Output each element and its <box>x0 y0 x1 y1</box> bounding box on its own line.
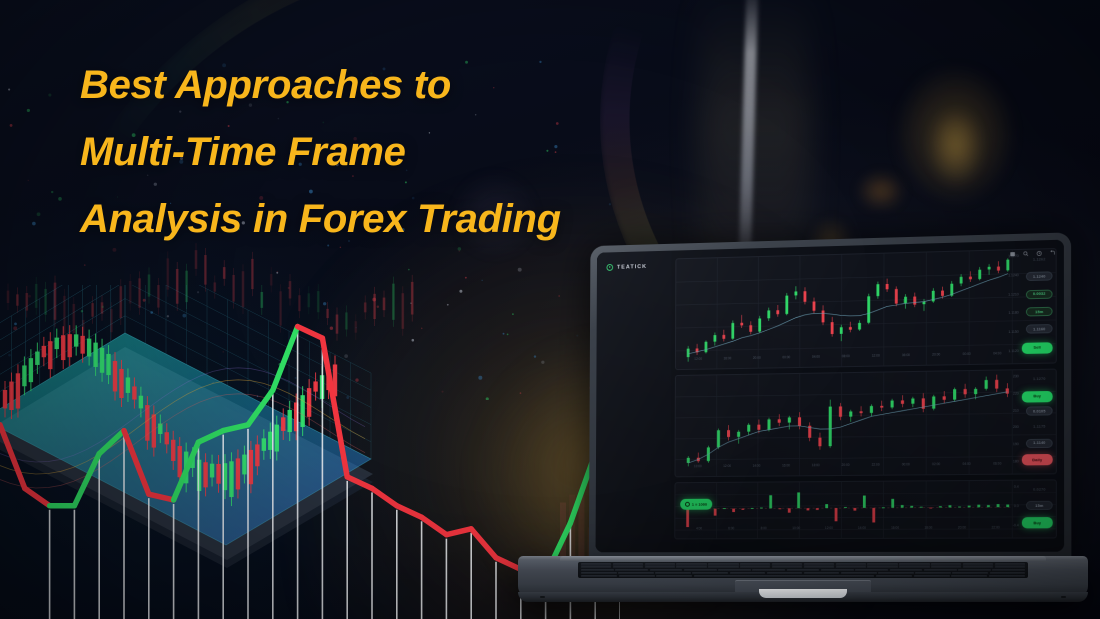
title-line-3: Analysis in Forex Trading <box>80 186 700 253</box>
title-line-2: Multi-Time Frame <box>80 119 700 186</box>
banner-title: Best Approaches to Multi-Time Frame Anal… <box>80 52 700 253</box>
title-line-1: Best Approaches to <box>80 52 700 119</box>
banner-root: TEATICK <box>0 0 1100 619</box>
